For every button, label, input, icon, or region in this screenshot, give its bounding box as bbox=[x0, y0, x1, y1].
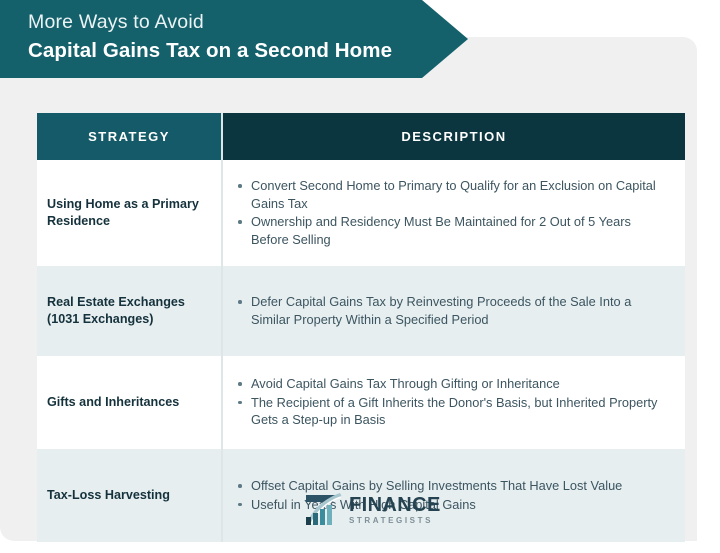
list-item: Convert Second Home to Primary to Qualif… bbox=[249, 177, 669, 212]
banner-subtitle: More Ways to Avoid bbox=[28, 9, 468, 36]
table-row: Using Home as a Primary Residence Conver… bbox=[37, 160, 685, 266]
logo-wordmark: FINANCE STRATEGISTS bbox=[349, 495, 441, 525]
table-row: Gifts and Inheritances Avoid Capital Gai… bbox=[37, 356, 685, 449]
table-head: STRATEGY DESCRIPTION bbox=[37, 113, 685, 160]
bullet-list: Offset Capital Gains by Selling Investme… bbox=[231, 477, 669, 513]
cell-strategy: Real Estate Exchanges (1031 Exchanges) bbox=[37, 266, 222, 356]
header-banner: More Ways to Avoid Capital Gains Tax on … bbox=[0, 0, 468, 78]
list-item: Offset Capital Gains by Selling Investme… bbox=[249, 477, 669, 495]
list-item: Avoid Capital Gains Tax Through Gifting … bbox=[249, 375, 669, 393]
bullet-list: Convert Second Home to Primary to Qualif… bbox=[231, 177, 669, 248]
bullet-list: Avoid Capital Gains Tax Through Gifting … bbox=[231, 375, 669, 429]
banner-title: Capital Gains Tax on a Second Home bbox=[28, 37, 468, 65]
cell-description: Avoid Capital Gains Tax Through Gifting … bbox=[222, 356, 685, 449]
list-item: Defer Capital Gains Tax by Reinvesting P… bbox=[249, 293, 669, 328]
list-item: The Recipient of a Gift Inherits the Don… bbox=[249, 394, 669, 429]
logo-subtitle: STRATEGISTS bbox=[349, 517, 441, 525]
cell-strategy: Using Home as a Primary Residence bbox=[37, 160, 222, 266]
cell-strategy: Gifts and Inheritances bbox=[37, 356, 222, 449]
bullet-list: Defer Capital Gains Tax by Reinvesting P… bbox=[231, 293, 669, 328]
finance-strategists-logo: FINANCE STRATEGISTS bbox=[303, 493, 441, 527]
cell-description: Convert Second Home to Primary to Qualif… bbox=[222, 160, 685, 266]
cell-description: Offset Capital Gains by Selling Investme… bbox=[222, 449, 685, 542]
logo-title: FINANCE bbox=[349, 495, 441, 515]
bar-chart-swoosh-icon bbox=[303, 493, 343, 527]
table-row: Real Estate Exchanges (1031 Exchanges) D… bbox=[37, 266, 685, 356]
table-header-row: STRATEGY DESCRIPTION bbox=[37, 113, 685, 160]
column-header-strategy: STRATEGY bbox=[37, 113, 222, 160]
column-header-description: DESCRIPTION bbox=[222, 113, 685, 160]
cell-strategy: Tax-Loss Harvesting bbox=[37, 449, 222, 542]
table-body: Using Home as a Primary Residence Conver… bbox=[37, 160, 685, 542]
cell-description: Defer Capital Gains Tax by Reinvesting P… bbox=[222, 266, 685, 356]
list-item: Ownership and Residency Must Be Maintain… bbox=[249, 213, 669, 248]
strategy-table: STRATEGY DESCRIPTION Using Home as a Pri… bbox=[37, 113, 685, 542]
